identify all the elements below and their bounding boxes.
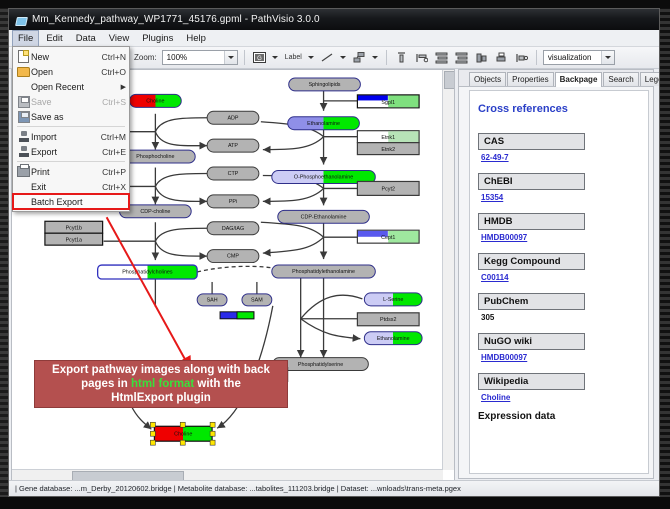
svg-text:Etnk2: Etnk2	[381, 147, 395, 153]
menu-item-open-recent-label: Open Recent	[31, 82, 121, 92]
menu-item-export[interactable]: Export Ctrl+E	[13, 144, 129, 159]
menu-item-print[interactable]: Print Ctrl+P	[13, 164, 129, 179]
node-pcyt1a[interactable]: Pcyt1a	[45, 233, 103, 245]
node-phosphatidylethanolamine[interactable]: Phosphatidylethanolamine	[272, 265, 375, 278]
svg-text:Pcyt2: Pcyt2	[382, 186, 395, 192]
xref-db-chebi: ChEBI	[478, 173, 585, 190]
visualization-chevron-down-icon[interactable]	[601, 51, 614, 64]
menu-item-export-label: Export	[31, 147, 98, 157]
xref-db-hmdb: HMDB	[478, 213, 585, 230]
svg-text:CMP: CMP	[227, 254, 239, 260]
node-cdp-ethanolamine[interactable]: CDP-Ethanolamine	[278, 210, 370, 223]
menu-item-save-label: Save	[31, 97, 98, 107]
menu-item-new-accel: Ctrl+N	[98, 52, 126, 62]
blank-icon-2	[16, 180, 31, 193]
window-frame-right	[660, 0, 670, 509]
toolbar-separator-3	[536, 50, 537, 65]
node-cdp-choline[interactable]: CDP-choline	[120, 205, 192, 218]
xref-value-hmdb[interactable]: HMDB00097	[481, 233, 640, 242]
stack-center-icon[interactable]	[453, 49, 470, 66]
callout-line3: HtmlExport plugin	[111, 392, 211, 404]
xref-db-nugo: NuGO wiki	[478, 333, 585, 350]
xref-value-cas[interactable]: 62-49-7	[481, 153, 640, 162]
node-ethanolamine[interactable]: Ethanolamine	[288, 117, 360, 130]
callout-line2-a: pages in	[81, 378, 131, 390]
chevron-down-icon[interactable]	[224, 51, 237, 64]
window-frame-left	[0, 0, 8, 509]
xref-db-cas: CAS	[478, 133, 585, 150]
pathvisio-icon	[15, 14, 27, 26]
svg-text:Pcyt1a: Pcyt1a	[66, 238, 82, 244]
window-title: Mm_Kennedy_pathway_WP1771_45176.gpml - P…	[32, 14, 320, 25]
menu-divider-2	[17, 161, 125, 162]
svg-text:Phosphatidylcholines: Phosphatidylcholines	[122, 270, 173, 276]
callout-line2-b: with the	[194, 378, 241, 390]
tab-search[interactable]: Search	[603, 72, 638, 86]
import-icon	[16, 130, 31, 143]
zoom-label: Zoom:	[134, 53, 157, 62]
node-sah[interactable]: SAH	[197, 294, 227, 306]
svg-text:Ethanolamine: Ethanolamine	[307, 121, 340, 127]
menu-item-open[interactable]: Open Ctrl+O	[13, 64, 129, 79]
node-atp[interactable]: ATP	[207, 139, 259, 152]
svg-text:Phosphatidylserine: Phosphatidylserine	[298, 362, 343, 368]
cross-references-heading: Cross references	[478, 103, 640, 115]
node-choline[interactable]: Choline	[130, 94, 182, 107]
svg-text:Etnk1: Etnk1	[381, 135, 395, 141]
menu-item-import[interactable]: Import Ctrl+M	[13, 129, 129, 144]
svg-text:L-Serine: L-Serine	[383, 297, 403, 303]
node-adp[interactable]: ADP	[207, 111, 259, 124]
menu-item-export-accel: Ctrl+E	[98, 147, 126, 157]
svg-text:Choline: Choline	[174, 432, 192, 438]
status-bar: | Gene database: ...m_Derby_20120602.bri…	[9, 480, 659, 496]
tab-properties[interactable]: Properties	[507, 72, 553, 86]
backpage-content: Cross references CAS 62-49-7 ChEBI 15354…	[469, 90, 649, 474]
menu-item-save-as[interactable]: Save as	[13, 109, 129, 124]
geneproduct-dropdown-icon[interactable]	[271, 50, 280, 65]
tab-legend[interactable]: Legend	[640, 72, 660, 86]
node-sam[interactable]: SAM	[242, 294, 272, 306]
menu-bar: File Edit Data View Plugins Help	[9, 30, 659, 47]
save-as-icon	[16, 110, 31, 123]
svg-text:Phosphatidylethanolamine: Phosphatidylethanolamine	[292, 269, 355, 275]
expression-data-heading: Expression data	[478, 411, 640, 422]
node-sphingolipids[interactable]: Sphingolipids	[289, 78, 361, 91]
menu-item-exit[interactable]: Exit Ctrl+X	[13, 179, 129, 194]
svg-text:Sgpl1: Sgpl1	[381, 100, 395, 106]
svg-text:Ethanolamine: Ethanolamine	[377, 336, 410, 342]
svg-text:CDP-Ethanolamine: CDP-Ethanolamine	[301, 214, 347, 220]
blank-icon-3	[16, 195, 31, 208]
save-disk-icon	[16, 95, 31, 108]
svg-text:Pcyt1b: Pcyt1b	[66, 226, 82, 232]
svg-text:Ptdss2: Ptdss2	[380, 317, 396, 323]
xref-value-kegg[interactable]: C00114	[481, 273, 640, 282]
print-icon	[16, 165, 31, 178]
menu-help[interactable]: Help	[180, 30, 212, 47]
svg-text:SAH: SAH	[207, 298, 218, 304]
xref-db-pubchem: PubChem	[478, 293, 585, 310]
side-dock-panel: Objects Properties Backpage Search Legen…	[458, 69, 654, 479]
toolbar-separator	[244, 50, 245, 65]
align-left-icon[interactable]	[413, 49, 430, 66]
interaction-dropdown-icon[interactable]	[371, 50, 380, 65]
label-tool-icon[interactable]: Label	[283, 54, 304, 61]
node-pcyt1b[interactable]: Pcyt1b	[45, 221, 103, 233]
visualization-combobox[interactable]: visualization	[543, 50, 615, 65]
align-top-icon[interactable]	[393, 49, 410, 66]
xref-value-nugo[interactable]: HMDB00097	[481, 353, 640, 362]
node-cmp[interactable]: CMP	[207, 250, 259, 263]
title-bar: Mm_Kennedy_pathway_WP1771_45176.gpml - P…	[9, 9, 659, 30]
node-ethanolamine-2[interactable]: Ethanolamine	[364, 332, 422, 345]
svg-text:G: G	[257, 56, 262, 62]
annotation-arrow	[107, 217, 192, 370]
line-dropdown-icon[interactable]	[339, 50, 348, 65]
export-icon	[16, 145, 31, 158]
pathvisio-application-window: Mm_Kennedy_pathway_WP1771_45176.gpml - P…	[8, 8, 660, 497]
visualization-value: visualization	[548, 53, 592, 62]
svg-text:Sphingolipids: Sphingolipids	[309, 82, 341, 88]
distribute-vertical-icon[interactable]	[433, 49, 450, 66]
svg-text:ADP: ADP	[227, 115, 238, 121]
menu-item-new-label: New	[31, 52, 98, 62]
node-ptdss2[interactable]: Ptdss2	[357, 313, 419, 326]
node-ctp[interactable]: CTP	[207, 167, 259, 180]
menu-item-import-accel: Ctrl+M	[97, 132, 126, 142]
node-dag[interactable]: DAG/IAG	[207, 222, 259, 235]
callout-highlight: html format	[131, 378, 194, 390]
annotation-callout: Export pathway images along with back pa…	[34, 360, 288, 408]
svg-text:Choline: Choline	[146, 98, 164, 104]
svg-text:Phosphocholine: Phosphocholine	[136, 154, 174, 160]
menu-item-batch-export[interactable]: Batch Export	[13, 194, 129, 209]
menu-item-new[interactable]: New Ctrl+N	[13, 49, 129, 64]
xref-value-pubchem: 305	[481, 313, 640, 322]
canvas-vertical-scrollbar[interactable]	[442, 70, 454, 470]
window-frame-top	[0, 0, 670, 8]
svg-text:DAG/IAG: DAG/IAG	[222, 226, 244, 232]
side-panel-tabstrip: Objects Properties Backpage Search Legen…	[459, 70, 653, 87]
node-sgpl1[interactable]: Sgpl1	[357, 95, 419, 108]
label-dropdown-icon[interactable]	[307, 50, 316, 65]
node-etnk2[interactable]: Etnk2	[357, 143, 419, 155]
menu-item-exit-accel: Ctrl+X	[98, 182, 126, 192]
file-menu-dropdown: New Ctrl+N Open Ctrl+O Open Recent ▶ Sav…	[12, 46, 130, 212]
menu-item-import-label: Import	[31, 132, 97, 142]
menu-item-open-recent[interactable]: Open Recent ▶	[13, 79, 129, 94]
svg-text:SAM: SAM	[251, 298, 263, 304]
svg-text:PPi: PPi	[229, 199, 237, 205]
xref-db-wikipedia: Wikipedia	[478, 373, 585, 390]
svg-text:O-Phosphoethanolamine: O-Phosphoethanolamine	[294, 175, 353, 181]
node-phosphatidylcholines[interactable]: Phosphatidylcholines	[98, 265, 198, 279]
menu-item-batch-export-label: Batch Export	[31, 197, 126, 207]
svg-text:CTP: CTP	[228, 171, 239, 177]
ungroup-icon[interactable]	[513, 49, 530, 66]
menu-item-save-accel: Ctrl+S	[98, 97, 126, 107]
interaction-tool-icon[interactable]	[351, 49, 368, 66]
menu-view[interactable]: View	[103, 30, 135, 47]
xref-value-wikipedia[interactable]: Choline	[481, 393, 640, 402]
node-choline-selected[interactable]: Choline	[150, 422, 215, 445]
node-etnk1[interactable]: Etnk1	[357, 131, 419, 143]
submenu-arrow-icon: ▶	[121, 83, 126, 91]
menu-file[interactable]: File	[12, 30, 39, 47]
zoom-value: 100%	[167, 53, 187, 62]
menu-item-open-label: Open	[31, 67, 97, 77]
group-icon[interactable]	[493, 49, 510, 66]
svg-text:CDP-choline: CDP-choline	[140, 209, 170, 215]
svg-text:ATP: ATP	[228, 143, 238, 149]
menu-item-print-accel: Ctrl+P	[98, 167, 126, 177]
screenshot-root: Mm_Kennedy_pathway_WP1771_45176.gpml - P…	[0, 0, 670, 509]
toolbar-separator-2	[386, 50, 387, 65]
menu-item-save: Save Ctrl+S	[13, 94, 129, 109]
new-document-icon	[16, 50, 31, 63]
menu-plugins[interactable]: Plugins	[136, 30, 179, 47]
menu-divider-1	[17, 126, 125, 127]
geneproduct-tool-icon[interactable]: G	[251, 49, 268, 66]
node-pcyt2[interactable]: Pcyt2	[357, 181, 419, 195]
open-folder-icon	[16, 65, 31, 78]
menu-item-open-accel: Ctrl+O	[97, 67, 126, 77]
menu-data[interactable]: Data	[70, 30, 102, 47]
node-cept1[interactable]: Cept1	[357, 230, 419, 243]
xref-value-chebi[interactable]: 15354	[481, 193, 640, 202]
menu-item-print-label: Print	[31, 167, 98, 177]
tab-objects[interactable]: Objects	[469, 72, 506, 86]
blank-icon	[16, 80, 31, 93]
callout-line1: Export pathway images along with back	[52, 364, 270, 376]
status-bar-text: | Gene database: ...m_Derby_20120602.bri…	[15, 484, 461, 493]
common-size-icon[interactable]	[473, 49, 490, 66]
line-tool-icon[interactable]	[319, 49, 336, 66]
node-ppi[interactable]: PPi	[207, 195, 259, 208]
node-pemt[interactable]	[220, 312, 254, 319]
menu-item-exit-label: Exit	[31, 182, 98, 192]
node-l-serine[interactable]: L-Serine	[364, 293, 422, 306]
canvas-vscroll-thumb[interactable]	[444, 71, 455, 89]
menu-item-save-as-label: Save as	[31, 112, 122, 122]
window-frame-bottom	[0, 497, 670, 509]
zoom-combobox[interactable]: 100%	[162, 50, 238, 65]
xref-db-kegg: Kegg Compound	[478, 253, 585, 270]
menu-edit[interactable]: Edit	[40, 30, 68, 47]
tab-backpage[interactable]: Backpage	[555, 72, 603, 87]
svg-text:Cept1: Cept1	[381, 235, 395, 241]
